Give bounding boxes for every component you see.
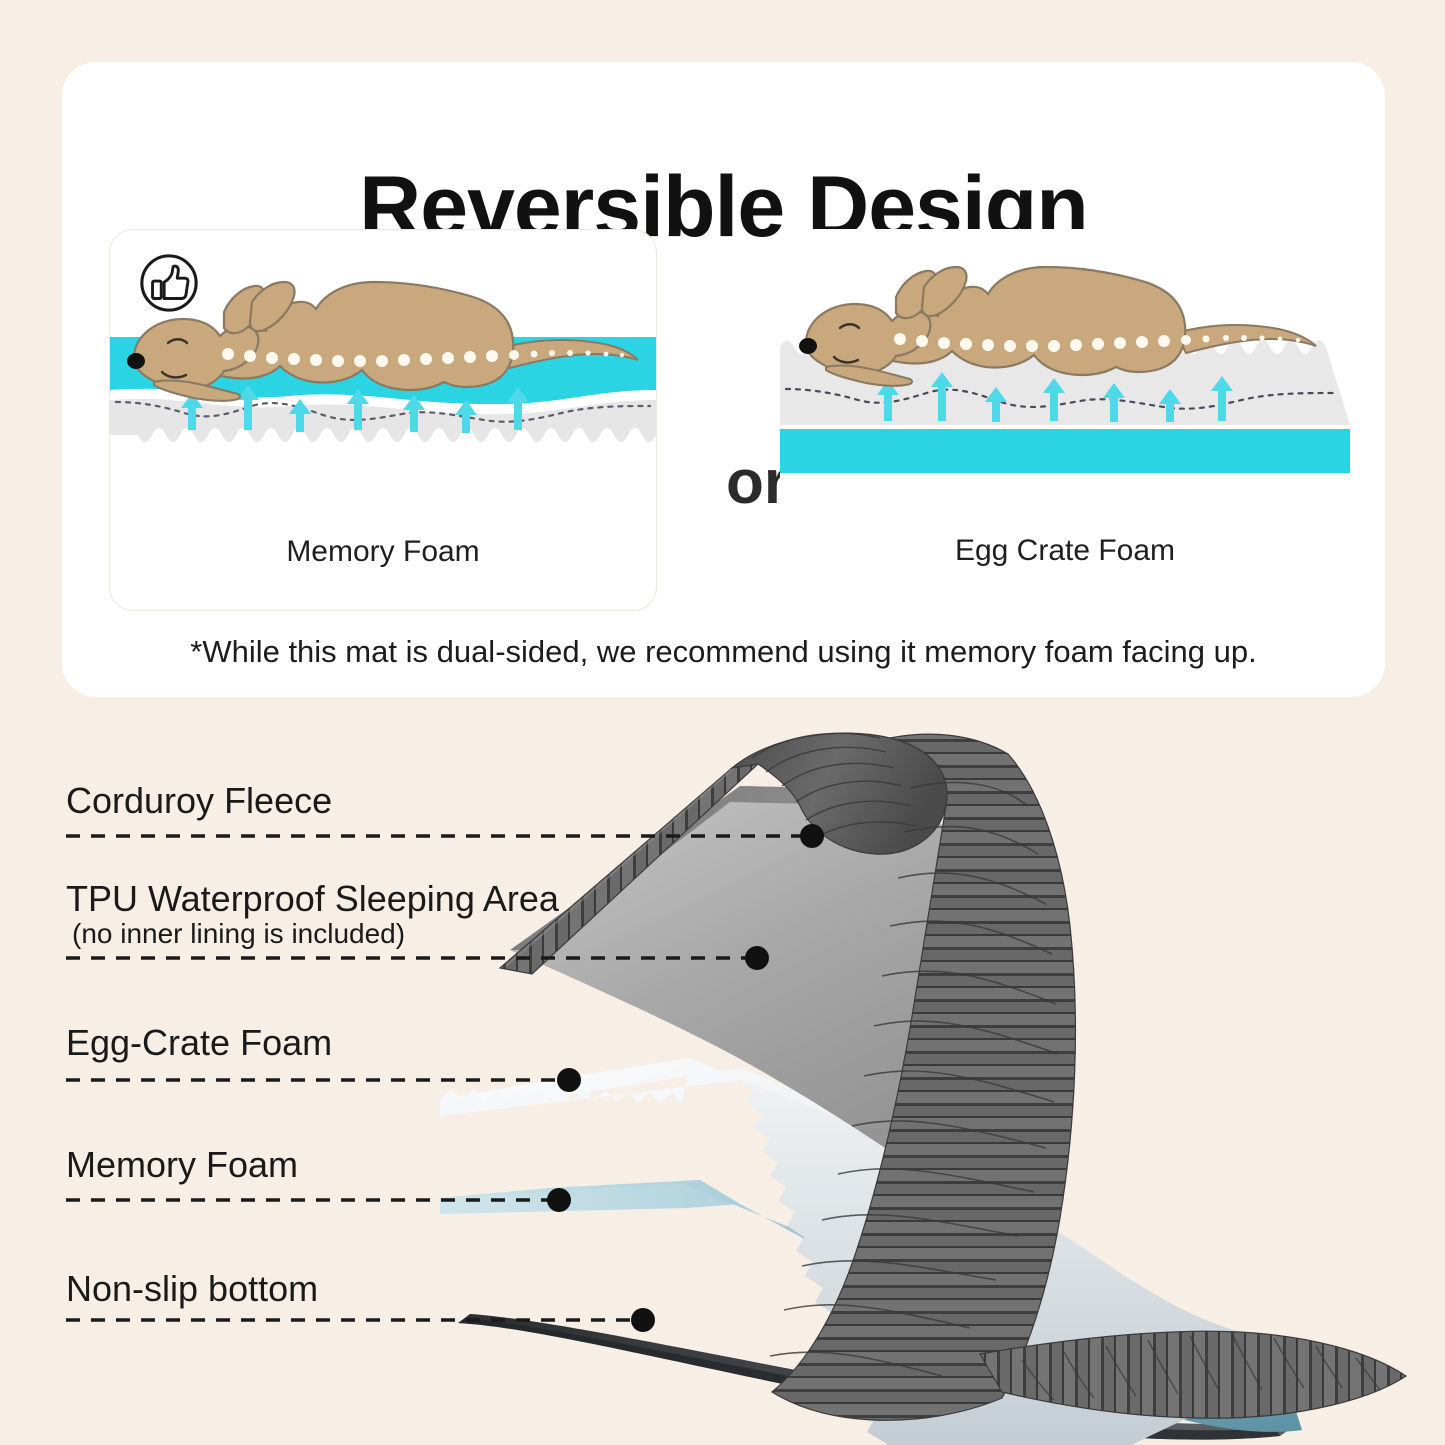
- label-tpu-waterproof-note: (no inner lining is included): [72, 918, 405, 950]
- egg-crate-foam-caption: Egg Crate Foam: [780, 534, 1350, 568]
- egg-crate-foam-panel: Egg Crate Foam: [780, 229, 1350, 609]
- or-separator-label: or: [726, 447, 788, 518]
- label-tpu-waterproof: TPU Waterproof Sleeping Area: [66, 878, 559, 920]
- infographic-root: Reversible Design: [0, 0, 1445, 1445]
- label-corduroy-fleece: Corduroy Fleece: [66, 780, 332, 822]
- thumbs-up-icon: [138, 252, 200, 314]
- layered-bed-illustration: [440, 728, 1445, 1445]
- memory-foam-panel: Memory Foam: [109, 229, 657, 611]
- label-memory-foam: Memory Foam: [66, 1144, 298, 1186]
- dual-sided-footnote: *While this mat is dual-sided, we recomm…: [62, 634, 1385, 670]
- label-non-slip-bottom: Non-slip bottom: [66, 1268, 318, 1310]
- reversible-design-card: Reversible Design: [62, 62, 1385, 697]
- label-egg-crate-foam: Egg-Crate Foam: [66, 1022, 332, 1064]
- memory-foam-caption: Memory Foam: [110, 535, 656, 569]
